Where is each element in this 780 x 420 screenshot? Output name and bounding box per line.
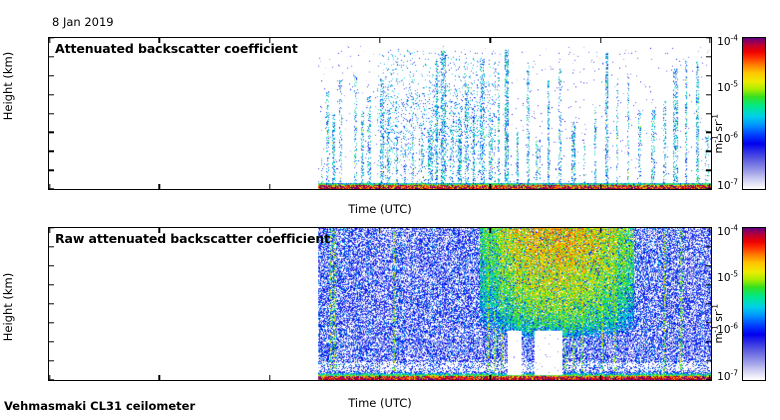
y-tick-mark	[706, 265, 711, 266]
y-tick-mark	[706, 284, 711, 285]
x-tick-mark	[269, 184, 270, 189]
x-tick-mark	[379, 38, 380, 43]
x-tick-mark	[159, 375, 160, 380]
y-tick-mark	[49, 360, 54, 361]
y-tick-mark	[49, 341, 54, 342]
plot-area-raw-attenuated-backscatter	[49, 228, 711, 380]
x-tick-mark	[490, 228, 491, 233]
colorbar-tick-label: 10-7	[717, 372, 738, 383]
y-tick-mark	[49, 246, 54, 247]
x-tick-mark	[709, 184, 710, 189]
x-tick-mark	[49, 184, 50, 189]
x-tick-mark	[49, 38, 50, 43]
x-tick-mark	[49, 228, 50, 233]
x-tick-mark	[490, 375, 491, 380]
ceilometer-figure: 8 Jan 2019 Attenuated backscatter coeffi…	[0, 0, 780, 420]
y-tick-mark	[706, 151, 711, 152]
colorbar-tick-label: 10-6	[717, 324, 738, 335]
panel-attenuated-backscatter: Attenuated backscatter coefficient 01234…	[48, 37, 712, 190]
colorbar-top: m-1 sr-1 10-410-510-610-7	[742, 37, 766, 190]
y-axis-label-bottom-text: Height (km)	[1, 273, 15, 342]
x-tick-mark	[600, 228, 601, 233]
y-tick-mark	[49, 132, 54, 133]
colorbar-tick-label: 10-4	[717, 37, 738, 48]
x-tick-mark	[49, 375, 50, 380]
x-tick-mark	[709, 375, 710, 380]
y-tick-mark	[49, 56, 54, 57]
y-tick-mark	[706, 322, 711, 323]
x-tick-mark	[490, 184, 491, 189]
panel-title-raw-attenuated-backscatter: Raw attenuated backscatter coefficient	[55, 231, 330, 246]
x-tick-mark	[709, 38, 710, 43]
colorbar-bottom: m-1 sr-1 10-410-510-610-7	[742, 227, 766, 381]
y-tick-mark	[49, 265, 54, 266]
x-tick-mark	[709, 228, 710, 233]
x-tick-mark	[600, 184, 601, 189]
colorbar-tick-label: 10-6	[717, 134, 738, 145]
x-axis-label-top: Time (UTC)	[48, 202, 712, 216]
colorbar-tick-label: 10-4	[717, 227, 738, 238]
date-label: 8 Jan 2019	[52, 15, 114, 29]
y-axis-label-bottom: Height (km)	[1, 247, 15, 367]
station-label: Vehmasmaki CL31 ceilometer	[4, 399, 195, 413]
x-tick-mark	[379, 228, 380, 233]
x-tick-mark	[490, 38, 491, 43]
x-tick-mark	[600, 375, 601, 380]
x-tick-mark	[159, 184, 160, 189]
y-tick-mark	[49, 94, 54, 95]
panel-raw-attenuated-backscatter: Raw attenuated backscatter coefficient 0…	[48, 227, 712, 381]
y-tick-mark	[706, 169, 711, 170]
y-tick-mark	[49, 151, 54, 152]
panel-title-attenuated-backscatter: Attenuated backscatter coefficient	[55, 41, 298, 56]
y-tick-mark	[706, 75, 711, 76]
x-tick-mark	[600, 38, 601, 43]
y-axis-label-top: Height (km)	[1, 26, 15, 146]
y-tick-mark	[49, 303, 54, 304]
y-tick-mark	[49, 169, 54, 170]
colorbar-tick-label: 10-7	[717, 181, 738, 192]
y-axis-label-top-text: Height (km)	[1, 52, 15, 121]
y-tick-mark	[706, 132, 711, 133]
x-tick-mark	[269, 375, 270, 380]
x-tick-mark	[379, 184, 380, 189]
colorbar-tick-label: 10-5	[717, 273, 738, 284]
x-tick-mark	[379, 375, 380, 380]
colorbar-gradient-top	[742, 37, 766, 190]
y-tick-mark	[706, 341, 711, 342]
colorbar-gradient-bottom	[742, 227, 766, 381]
y-tick-mark	[49, 284, 54, 285]
y-tick-mark	[706, 360, 711, 361]
y-tick-mark	[706, 246, 711, 247]
plot-area-attenuated-backscatter	[49, 38, 711, 189]
y-tick-mark	[706, 56, 711, 57]
y-tick-mark	[49, 75, 54, 76]
y-tick-mark	[706, 94, 711, 95]
colorbar-tick-label: 10-5	[717, 83, 738, 94]
y-tick-mark	[49, 322, 54, 323]
y-tick-mark	[49, 113, 54, 114]
